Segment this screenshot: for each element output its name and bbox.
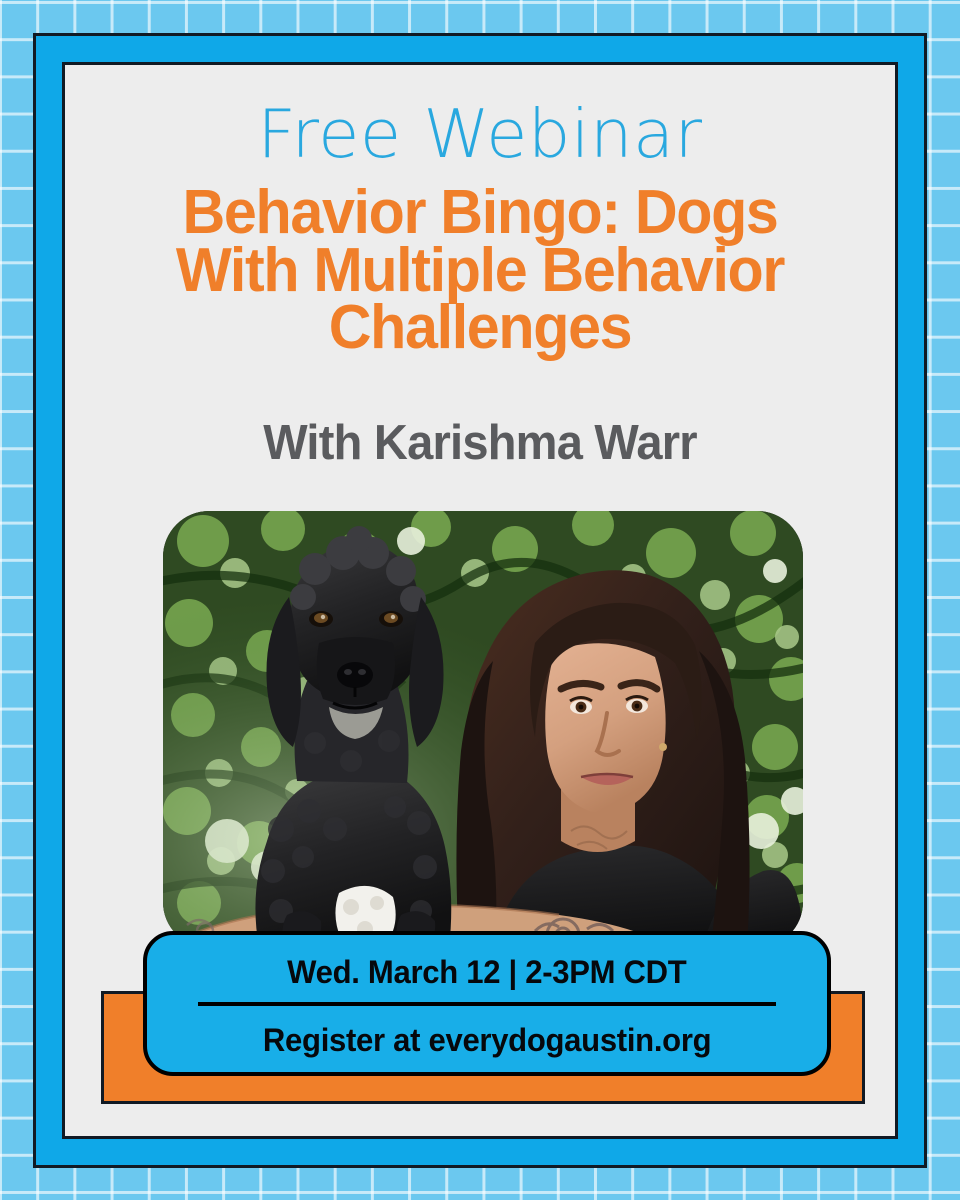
headline-line-1: Behavior Bingo: Dogs: [107, 184, 854, 242]
registration-call-to-action[interactable]: Register at everydogaustin.org: [263, 1024, 711, 1056]
presenter-photo: [163, 511, 803, 948]
event-info-card[interactable]: Wed. March 12 | 2-3PM CDT Register at ev…: [143, 931, 831, 1076]
eyebrow-free-webinar: Free Webinar: [65, 101, 895, 168]
photo-illustration: [163, 511, 803, 948]
headline-line-3: Challenges: [107, 299, 854, 357]
poster-inner-panel: Free Webinar Behavior Bingo: Dogs With M…: [62, 62, 898, 1139]
card-divider: [198, 1002, 776, 1006]
headline-line-2: With Multiple Behavior: [107, 242, 854, 300]
poster-headline: Behavior Bingo: Dogs With Multiple Behav…: [107, 184, 854, 357]
poster-outer-frame: Free Webinar Behavior Bingo: Dogs With M…: [33, 33, 927, 1168]
presenter-name: With Karishma Warr: [82, 419, 879, 468]
event-date-time: Wed. March 12 | 2-3PM CDT: [287, 956, 686, 988]
